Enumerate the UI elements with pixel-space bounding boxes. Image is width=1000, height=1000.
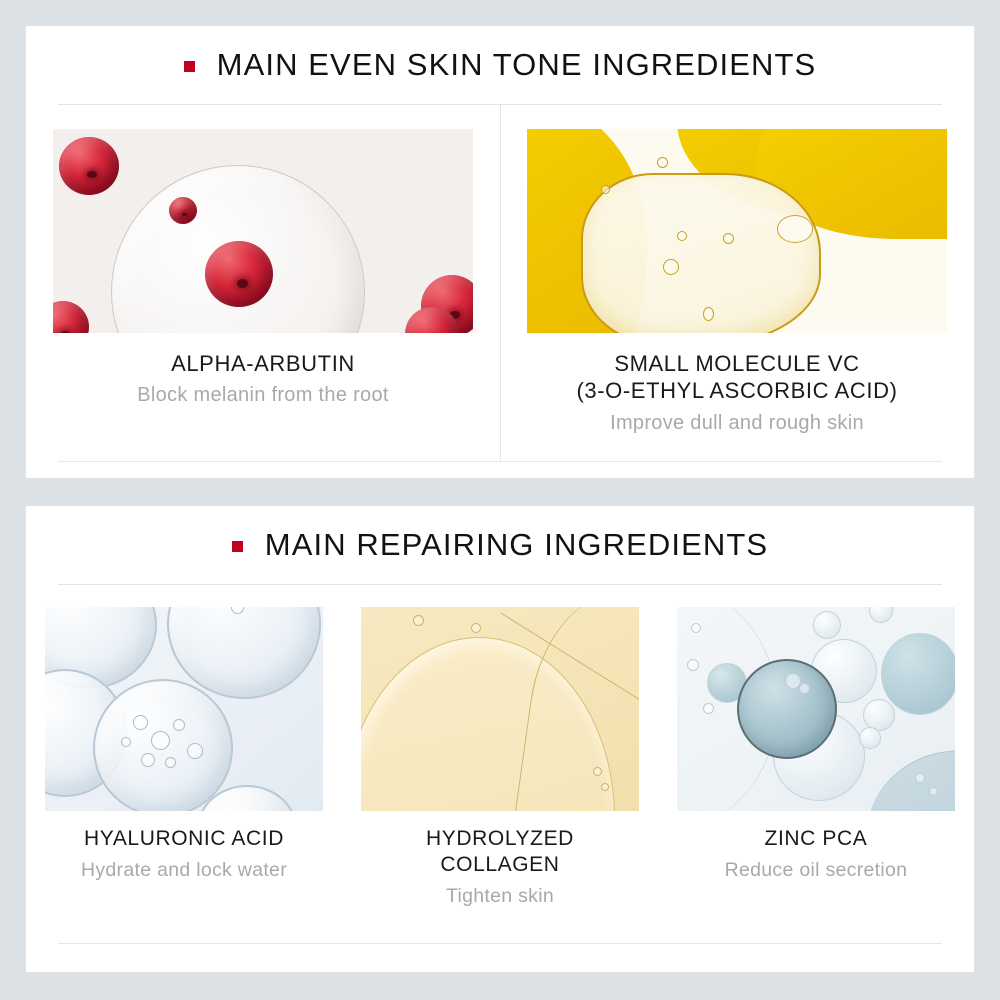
- section-heading-even-skin-tone: MAIN EVEN SKIN TONE INGREDIENTS: [26, 26, 974, 104]
- ingredient-description: Hydrate and lock water: [36, 858, 332, 883]
- ingredient-caption: HYALURONIC ACID Hydrate and lock water: [26, 811, 342, 883]
- ingredient-card-zinc-pca[interactable]: ZINC PCA Reduce oil secretion: [658, 585, 974, 943]
- square-bullet-icon: [232, 541, 243, 552]
- ingredient-description: Tighten skin: [352, 884, 648, 909]
- ingredient-card-grid-even-skin-tone: ALPHA-ARBUTIN Block melanin from the roo…: [26, 105, 974, 461]
- ingredient-card-alpha-arbutin[interactable]: ALPHA-ARBUTIN Block melanin from the roo…: [26, 105, 500, 461]
- ingredient-card-small-molecule-vc[interactable]: SMALL MOLECULE VC (3-O-ETHYL ASCORBIC AC…: [500, 105, 974, 461]
- ingredient-name: ALPHA-ARBUTIN: [36, 350, 490, 377]
- ingredient-name: ZINC PCA: [668, 826, 964, 852]
- ingredient-name: HYDROLYZED COLLAGEN: [352, 826, 648, 878]
- infographic-page: MAIN EVEN SKIN TONE INGREDIENTS: [0, 0, 1000, 1000]
- amber-collagen-gel-image: [361, 607, 639, 811]
- ingredient-caption: SMALL MOLECULE VC (3-O-ETHYL ASCORBIC AC…: [500, 333, 974, 436]
- ingredient-description: Improve dull and rough skin: [510, 411, 964, 436]
- section-panel-repairing: MAIN REPAIRING INGREDIENTS: [26, 506, 974, 972]
- golden-vitamin-c-oil-image: [527, 129, 947, 333]
- ingredient-card-grid-repairing: HYALURONIC ACID Hydrate and lock water: [26, 585, 974, 943]
- ingredient-name: SMALL MOLECULE VC (3-O-ETHYL ASCORBIC AC…: [510, 350, 964, 405]
- clear-gel-bubbles-image: [45, 607, 323, 811]
- ingredient-name: HYALURONIC ACID: [36, 826, 332, 852]
- section-heading-repairing: MAIN REPAIRING INGREDIENTS: [26, 506, 974, 584]
- red-berries-in-serum-image: [53, 129, 473, 333]
- ingredient-description: Block melanin from the root: [36, 383, 490, 408]
- ingredient-caption: ZINC PCA Reduce oil secretion: [658, 811, 974, 883]
- ingredient-description: Reduce oil secretion: [668, 858, 964, 883]
- blue-oil-droplets-image: [677, 607, 955, 811]
- ingredient-card-hydrolyzed-collagen[interactable]: HYDROLYZED COLLAGEN Tighten skin: [342, 585, 658, 943]
- ingredient-caption: HYDROLYZED COLLAGEN Tighten skin: [342, 811, 658, 909]
- section-title: MAIN EVEN SKIN TONE INGREDIENTS: [217, 47, 817, 83]
- section-title: MAIN REPAIRING INGREDIENTS: [265, 527, 768, 563]
- square-bullet-icon: [184, 61, 195, 72]
- ingredient-caption: ALPHA-ARBUTIN Block melanin from the roo…: [26, 333, 500, 408]
- ingredient-card-hyaluronic-acid[interactable]: HYALURONIC ACID Hydrate and lock water: [26, 585, 342, 943]
- section-panel-even-skin-tone: MAIN EVEN SKIN TONE INGREDIENTS: [26, 26, 974, 478]
